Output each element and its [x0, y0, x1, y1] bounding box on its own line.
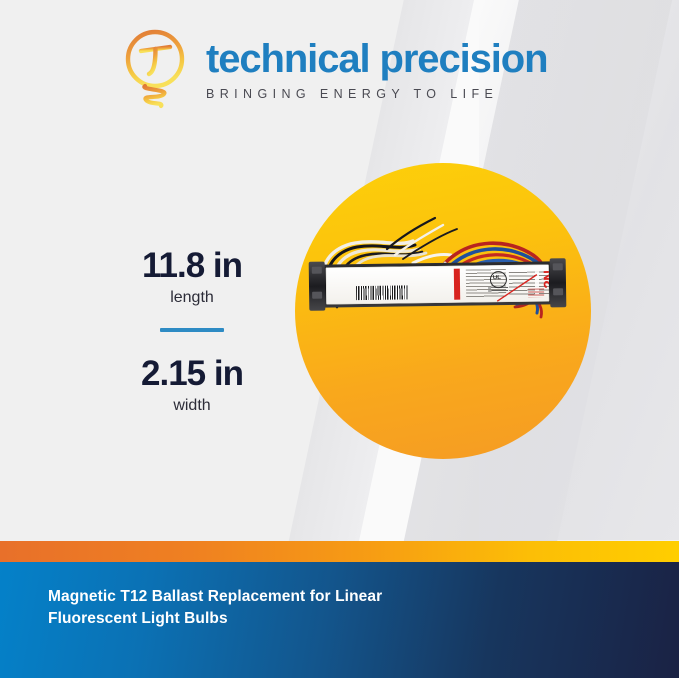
brand-tagline: BRINGING ENERGY TO LIFE: [206, 88, 547, 101]
brand-name: technical precision: [206, 39, 547, 79]
product-title-line-1: Magnetic T12 Ballast Replacement for Lin…: [48, 586, 568, 608]
length-label: length: [92, 289, 292, 307]
width-label: width: [92, 397, 292, 415]
ballast-end-bracket-right: [550, 258, 567, 307]
width-value: 2.15 in: [92, 356, 292, 393]
brand-logo: technical precision BRINGING ENERGY TO L…: [118, 26, 547, 112]
ballast-body: 2N: [314, 261, 562, 307]
length-value: 11.8 in: [92, 248, 292, 285]
product-photo: 2N: [295, 163, 591, 459]
red-stripe: [454, 269, 460, 300]
lightbulb-icon: [118, 26, 192, 112]
brand-text: technical precision BRINGING ENERGY TO L…: [206, 37, 547, 101]
diagonal-line-icon: [493, 273, 539, 304]
model-mark: 2N: [541, 270, 549, 288]
ballast-label: 2N: [326, 264, 549, 304]
ballast-end-bracket-left: [309, 262, 326, 311]
barcode-icon: [356, 285, 408, 300]
product-title: Magnetic T12 Ballast Replacement for Lin…: [48, 586, 568, 630]
dimension-divider: [160, 328, 224, 332]
dimension-callouts: 11.8 in length 2.15 in width: [92, 248, 292, 415]
accent-stripe: [0, 541, 679, 562]
product-title-line-2: Fluorescent Light Bulbs: [48, 608, 568, 630]
product-image-canvas: technical precision BRINGING ENERGY TO L…: [0, 0, 679, 678]
wire-bundle: [295, 163, 591, 459]
